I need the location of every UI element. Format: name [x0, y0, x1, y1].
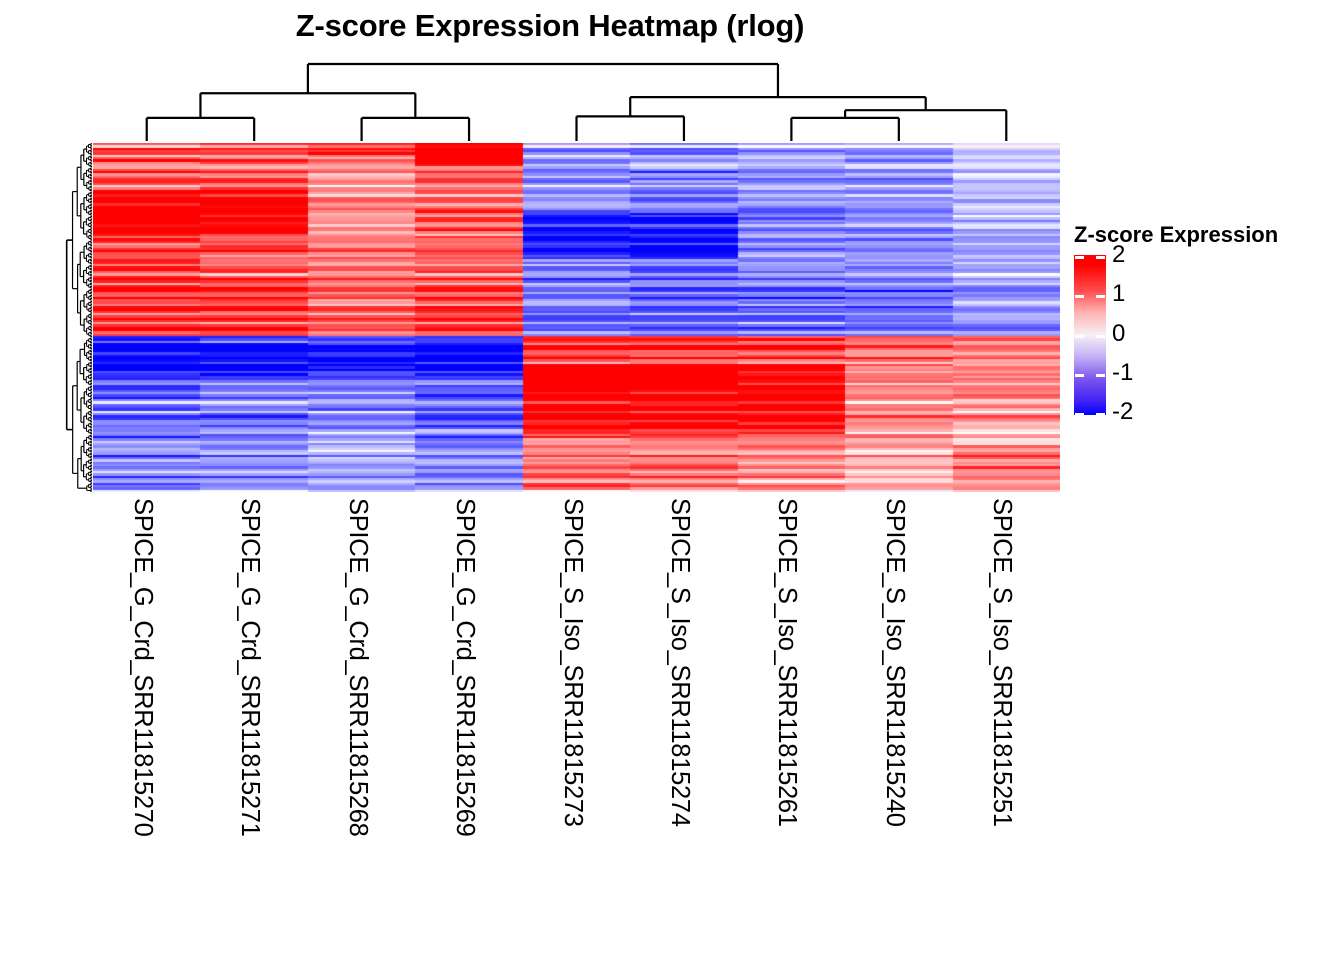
heatmap-figure: Z-score Expression Heatmap (rlog) SPICE_… — [0, 0, 1344, 960]
column-label-0: SPICE_G_Crd_SRR11815270 — [135, 498, 157, 918]
column-label-3: SPICE_G_Crd_SRR11815269 — [457, 498, 479, 918]
column-label-1: SPICE_G_Crd_SRR11815271 — [242, 498, 264, 918]
legend-tick-label-1: 1 — [1112, 282, 1125, 306]
column-label-2: SPICE_G_Crd_SRR11815268 — [350, 498, 372, 918]
legend-tick-label-2: 0 — [1112, 322, 1125, 346]
column-label-8: SPICE_S_Iso_SRR11815251 — [994, 498, 1016, 918]
legend-tick-mark-4 — [1075, 413, 1084, 416]
legend-tick-mark-4 — [1096, 413, 1105, 416]
row-dendrogram — [12, 143, 93, 492]
legend-tick-mark-2 — [1096, 335, 1105, 338]
legend-tick-label-4: -2 — [1112, 400, 1133, 424]
heatmap-cells[interactable] — [93, 143, 1060, 492]
legend-tick-label-0: 2 — [1112, 243, 1125, 267]
column-label-4: SPICE_S_Iso_SRR11815273 — [565, 498, 587, 918]
legend-tick-label-3: -1 — [1112, 361, 1133, 385]
legend-tick-mark-1 — [1075, 295, 1084, 298]
page-title: Z-score Expression Heatmap (rlog) — [0, 8, 1100, 44]
column-label-7: SPICE_S_Iso_SRR11815240 — [887, 498, 909, 918]
column-label-6: SPICE_S_Iso_SRR11815261 — [779, 498, 801, 918]
column-label-5: SPICE_S_Iso_SRR11815274 — [672, 498, 694, 918]
legend: Z-score Expression 210-1-2 — [1072, 222, 1334, 432]
legend-tick-mark-1 — [1096, 295, 1105, 298]
legend-tick-mark-3 — [1096, 374, 1105, 377]
legend-tick-mark-0 — [1096, 256, 1105, 259]
legend-tick-mark-3 — [1075, 374, 1084, 377]
column-dendrogram — [93, 58, 1060, 143]
legend-tick-mark-0 — [1075, 256, 1084, 259]
legend-title: Z-score Expression — [1074, 222, 1278, 248]
heatmap-panel[interactable] — [93, 143, 1060, 492]
legend-tick-mark-2 — [1075, 335, 1084, 338]
